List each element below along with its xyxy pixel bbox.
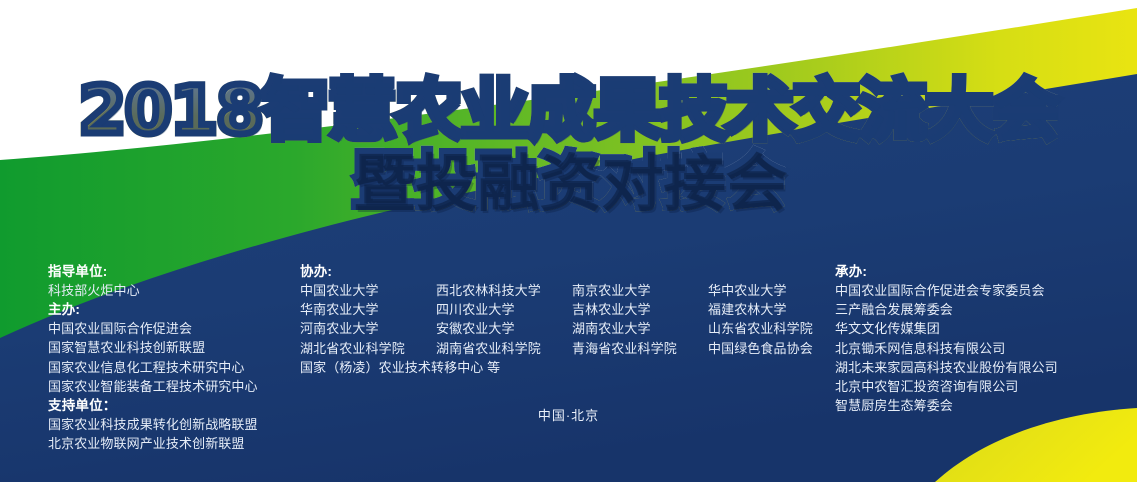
credits-item: 国家智慧农业科技创新联盟: [48, 338, 258, 357]
credits-item: 北京中农智汇投资咨询有限公司: [835, 377, 1058, 396]
organizer-heading: 承办:: [835, 262, 1058, 281]
credits-item: 三产融合发展筹委会: [835, 300, 1058, 319]
coorganizer-heading: 协办:: [300, 262, 848, 281]
credits-item: 湖北省农业科学院: [300, 339, 436, 358]
credits-item: 中国农业国际合作促进会: [48, 319, 258, 338]
credits-column-left: 指导单位: 科技部火炬中心 主办: 中国农业国际合作促进会 国家智慧农业科技创新…: [48, 262, 258, 453]
credits-item: 吉林农业大学: [572, 300, 708, 319]
credits-item: 山东省农业科学院: [708, 319, 848, 338]
credits-item: 中国绿色食品协会: [708, 339, 848, 358]
credits-item: 华南农业大学: [300, 300, 436, 319]
credits-item: 科技部火炬中心: [48, 281, 258, 300]
credits-item: 北京锄禾网信息科技有限公司: [835, 339, 1058, 358]
credits-column-right: 承办: 中国农业国际合作促进会专家委员会 三产融合发展筹委会 华文文化传媒集团 …: [835, 262, 1058, 415]
credits-item: 国家（杨凌）农业技术转移中心 等: [300, 358, 848, 377]
credits-item: 河南农业大学: [300, 319, 436, 338]
credits-item: 湖南农业大学: [572, 319, 708, 338]
host-heading: 主办:: [48, 300, 258, 319]
credits-item: 青海省农业科学院: [572, 339, 708, 358]
event-location: 中国·北京: [0, 405, 1137, 424]
credits-column-middle: 协办: 中国农业大学 西北农林科技大学 南京农业大学 华中农业大学 华南农业大学…: [300, 262, 848, 377]
credits-item: 北京农业物联网产业技术创新联盟: [48, 434, 258, 453]
credits-item: 四川农业大学: [436, 300, 572, 319]
credits-item: 国家农业信息化工程技术研究中心: [48, 358, 258, 377]
credits-item: 国家农业智能装备工程技术研究中心: [48, 377, 258, 396]
conference-banner: 2018智慧农业成果技术交流大会 暨投融资对接会 指导单位: 科技部火炬中心 主…: [0, 0, 1137, 482]
credits-item: 华中农业大学: [708, 281, 848, 300]
credits-item: 中国农业国际合作促进会专家委员会: [835, 281, 1058, 300]
credits-item: 湖北未来家园高科技农业股份有限公司: [835, 358, 1058, 377]
credits-item: 南京农业大学: [572, 281, 708, 300]
credits-item: 湖南省农业科学院: [436, 339, 572, 358]
credits-item: 安徽农业大学: [436, 319, 572, 338]
guidance-heading: 指导单位:: [48, 262, 258, 281]
credits-item: 中国农业大学: [300, 281, 436, 300]
credits-item: 华文文化传媒集团: [835, 319, 1058, 338]
coorganizer-grid: 中国农业大学 西北农林科技大学 南京农业大学 华中农业大学 华南农业大学 四川农…: [300, 281, 848, 358]
credits-item: 西北农林科技大学: [436, 281, 572, 300]
credits-item: 福建农林大学: [708, 300, 848, 319]
